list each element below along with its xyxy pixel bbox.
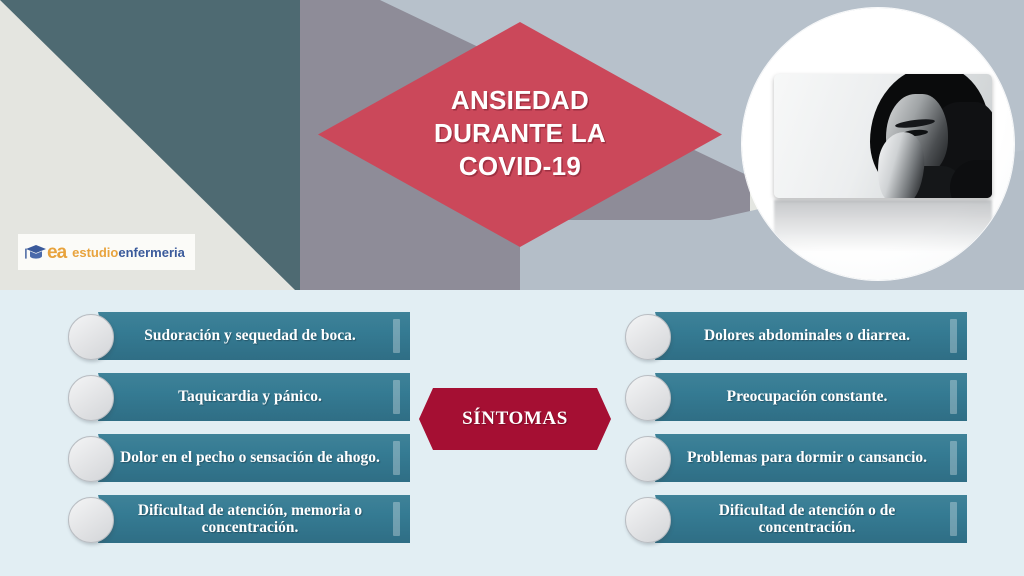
symptom-box[interactable]: Dolor en el pecho o sensación de ahogo. <box>98 434 410 482</box>
graduation-cap-icon <box>24 242 48 262</box>
symptom-label: Dificultad de atención, memoria o concen… <box>98 502 410 537</box>
infographic-slide: ANSIEDAD DURANTE LA COVID-19 ea estudioe… <box>0 0 1024 576</box>
list-item[interactable]: Preocupación constante. <box>625 373 975 421</box>
symptom-box[interactable]: Dificultad de atención o de concentració… <box>655 495 967 543</box>
anxiety-photo <box>774 74 992 198</box>
list-item[interactable]: Dolores abdominales o diarrea. <box>625 312 975 360</box>
list-item[interactable]: Taquicardia y pánico. <box>68 373 418 421</box>
sintomas-label: SÍNTOMAS <box>462 408 568 430</box>
photo-reflection <box>774 200 992 252</box>
symptom-label: Dolor en el pecho o sensación de ahogo. <box>102 449 406 466</box>
bullet-circle-icon <box>68 436 114 482</box>
bullet-circle-icon <box>625 497 671 543</box>
symptom-label: Dolores abdominales o diarrea. <box>686 327 936 344</box>
symptom-label: Preocupación constante. <box>709 388 914 405</box>
logo-wordmark: estudioenfermeria <box>72 246 185 259</box>
symptom-box[interactable]: Dificultad de atención, memoria o concen… <box>98 495 410 543</box>
symptom-box[interactable]: Preocupación constante. <box>655 373 967 421</box>
sintomas-hexagon: SÍNTOMAS <box>419 388 611 450</box>
symptoms-left-column: Sudoración y sequedad de boca. Taquicard… <box>68 312 418 556</box>
page-title: ANSIEDAD DURANTE LA COVID-19 <box>434 84 606 184</box>
symptom-box[interactable]: Dolores abdominales o diarrea. <box>655 312 967 360</box>
list-item[interactable]: Sudoración y sequedad de boca. <box>68 312 418 360</box>
bullet-circle-icon <box>625 375 671 421</box>
symptom-label: Sudoración y sequedad de boca. <box>126 327 381 344</box>
symptom-box[interactable]: Taquicardia y pánico. <box>98 373 410 421</box>
bullet-circle-icon <box>68 375 114 421</box>
list-item[interactable]: Dificultad de atención o de concentració… <box>625 495 975 543</box>
symptom-label: Dificultad de atención o de concentració… <box>655 502 967 537</box>
list-item[interactable]: Dificultad de atención, memoria o concen… <box>68 495 418 543</box>
photo-circle <box>742 8 1014 280</box>
brand-logo[interactable]: ea estudioenfermeria <box>18 234 195 270</box>
list-item[interactable]: Dolor en el pecho o sensación de ahogo. <box>68 434 418 482</box>
bullet-circle-icon <box>625 436 671 482</box>
bullet-circle-icon <box>68 314 114 360</box>
logo-word-estudio: estudio <box>72 245 118 260</box>
logo-mark: ea <box>47 243 66 262</box>
list-item[interactable]: Problemas para dormir o cansancio. <box>625 434 975 482</box>
logo-word-enfermeria: enfermeria <box>118 245 184 260</box>
bullet-circle-icon <box>625 314 671 360</box>
symptom-box[interactable]: Problemas para dormir o cansancio. <box>655 434 967 482</box>
symptom-box[interactable]: Sudoración y sequedad de boca. <box>98 312 410 360</box>
symptoms-right-column: Dolores abdominales o diarrea. Preocupac… <box>625 312 975 556</box>
symptom-label: Problemas para dormir o cansancio. <box>669 449 953 466</box>
symptom-label: Taquicardia y pánico. <box>160 388 348 405</box>
bullet-circle-icon <box>68 497 114 543</box>
